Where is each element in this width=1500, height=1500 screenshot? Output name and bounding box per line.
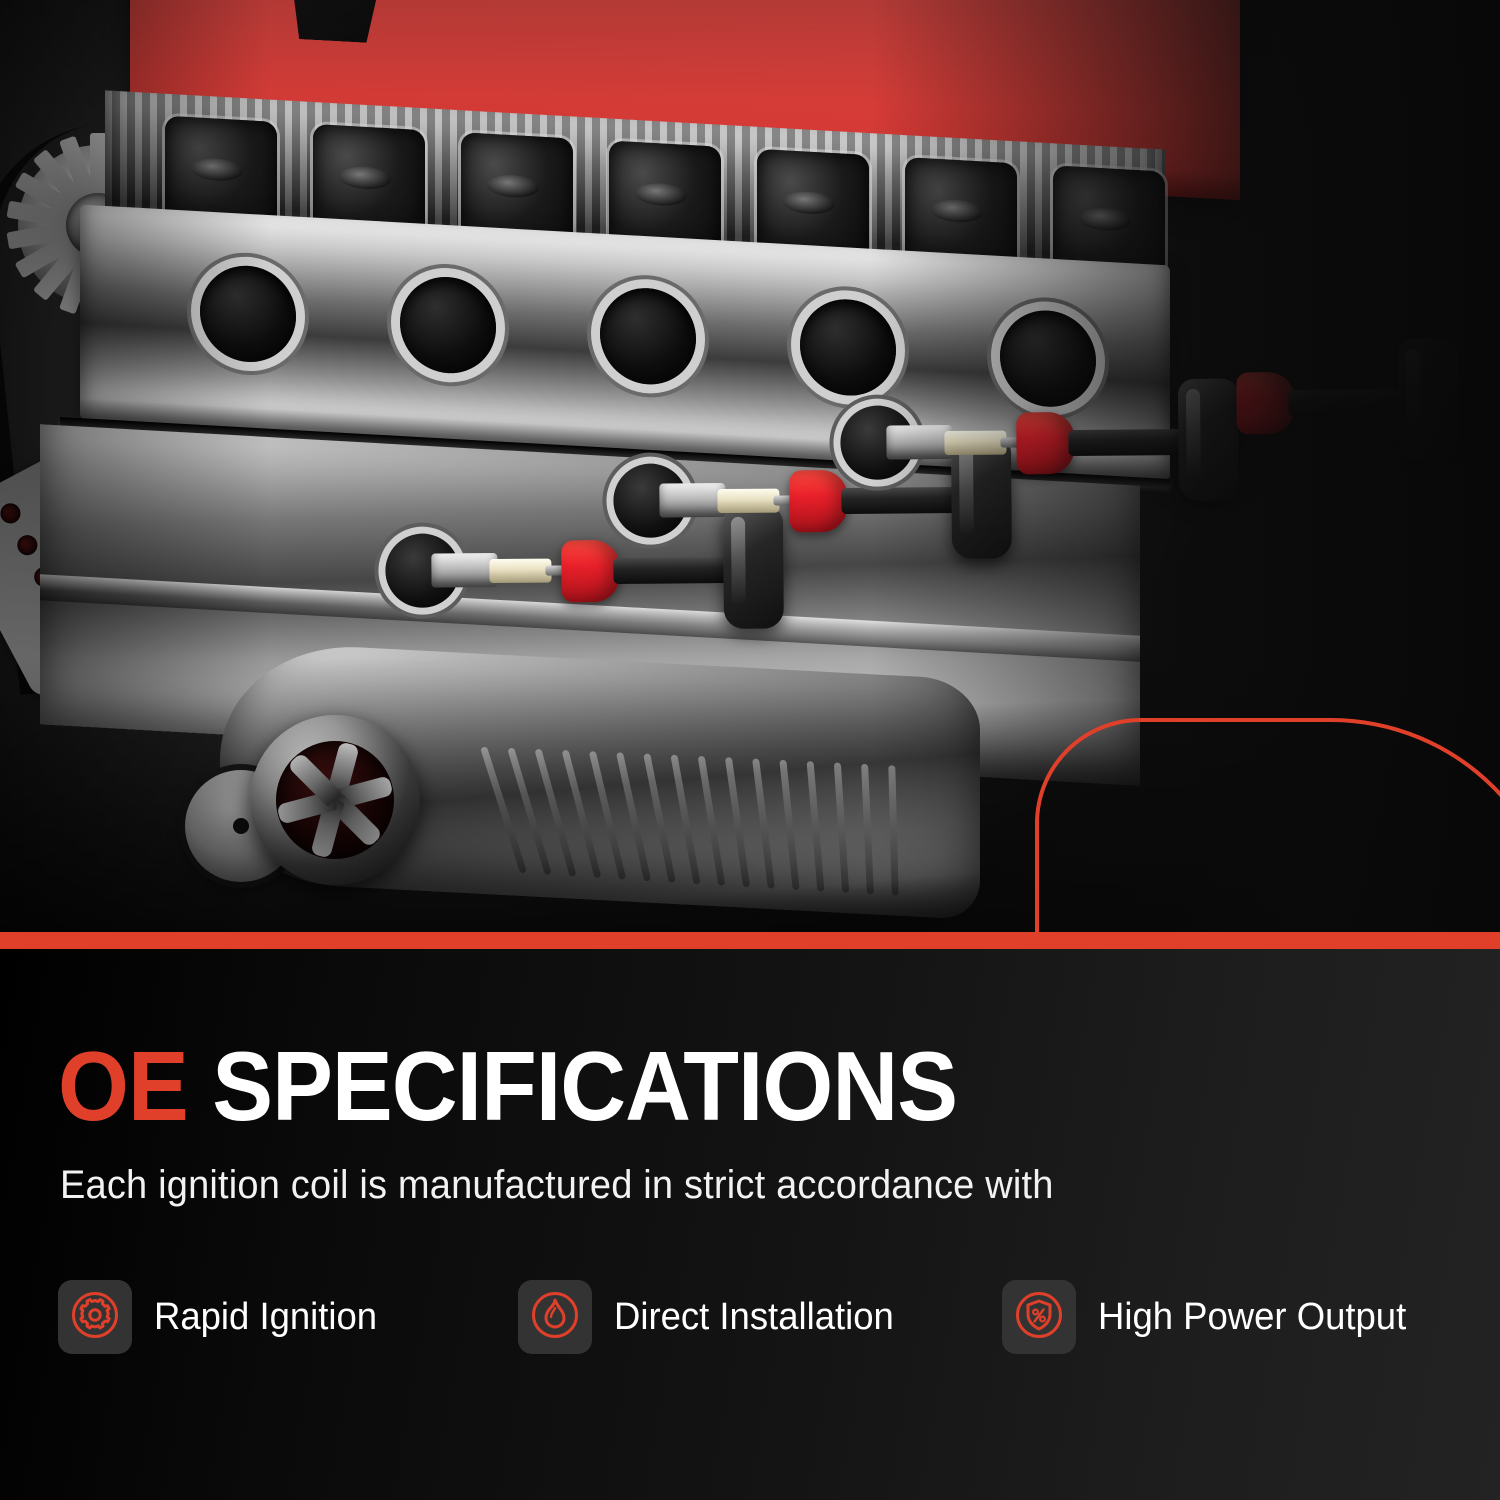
feature-label: Rapid Ignition	[154, 1296, 377, 1339]
coil-connector	[1398, 339, 1459, 462]
engine-product-photo	[0, 0, 1500, 940]
pan-flute	[725, 757, 750, 887]
pan-flute	[670, 754, 700, 884]
bracket-hole	[14, 532, 41, 559]
gear-icon	[70, 1290, 120, 1345]
subtitle: Each ignition coil is manufactured in st…	[60, 1163, 1054, 1208]
spark-plug-body	[886, 425, 952, 460]
feature-icon-tile	[518, 1280, 592, 1354]
engine-illustration	[0, 0, 1500, 940]
intake-port	[200, 263, 296, 364]
coil-shaft	[841, 487, 959, 514]
flame-icon	[530, 1290, 580, 1345]
coil-shaft	[1288, 389, 1406, 416]
pan-flute	[752, 758, 775, 888]
coil-connector	[1178, 379, 1239, 502]
feature-icon-tile	[58, 1280, 132, 1354]
valve-cover-notch	[280, 0, 400, 45]
headline-rest: SPECIFICATIONS	[188, 1031, 957, 1141]
intake-port	[1000, 308, 1096, 409]
coil-boot	[1016, 412, 1075, 475]
spark-plug-insulator	[944, 431, 1006, 456]
coil-boot	[561, 540, 620, 603]
spark-plug-insulator	[717, 489, 779, 514]
shield-percent-icon	[1014, 1290, 1064, 1345]
pan-flute	[861, 764, 874, 894]
feature-label: High Power Output	[1098, 1296, 1406, 1339]
pan-flute	[779, 760, 799, 890]
pan-flute	[888, 765, 898, 895]
feature-label: Direct Installation	[614, 1296, 894, 1339]
coil-shaft	[613, 557, 731, 584]
headline-accent: OE	[58, 1031, 188, 1141]
feature-icon-tile	[1002, 1280, 1076, 1354]
feature-item-direct-installation: Direct Installation	[518, 1280, 905, 1354]
intake-port	[800, 297, 896, 398]
pan-flute	[834, 763, 849, 893]
coil-boot	[1236, 372, 1295, 435]
pan-flute	[807, 761, 825, 891]
feature-item-high-power-output: High Power Output	[1002, 1280, 1419, 1354]
page-title: OE SPECIFICATIONS	[58, 1037, 957, 1135]
orange-divider-bar	[0, 932, 1500, 949]
intake-port	[400, 274, 496, 375]
pan-flute	[480, 746, 527, 874]
pan-flute	[643, 753, 676, 883]
coil-shaft	[1068, 429, 1186, 456]
coil-boot	[789, 470, 848, 533]
feature-item-rapid-ignition: Rapid Ignition	[58, 1280, 386, 1354]
spark-plug-body	[431, 553, 497, 588]
crank-pulley	[250, 715, 420, 885]
feature-list: Rapid Ignition Direct Installation	[0, 1280, 1500, 1380]
bracket-hole	[0, 500, 24, 527]
product-feature-banner: OE SPECIFICATIONS Each ignition coil is …	[0, 0, 1500, 1500]
coil-connector	[723, 507, 784, 630]
intake-port	[600, 286, 696, 387]
spark-plug-body	[659, 483, 725, 518]
spark-plug-insulator	[489, 559, 551, 584]
pan-flute	[698, 756, 726, 886]
